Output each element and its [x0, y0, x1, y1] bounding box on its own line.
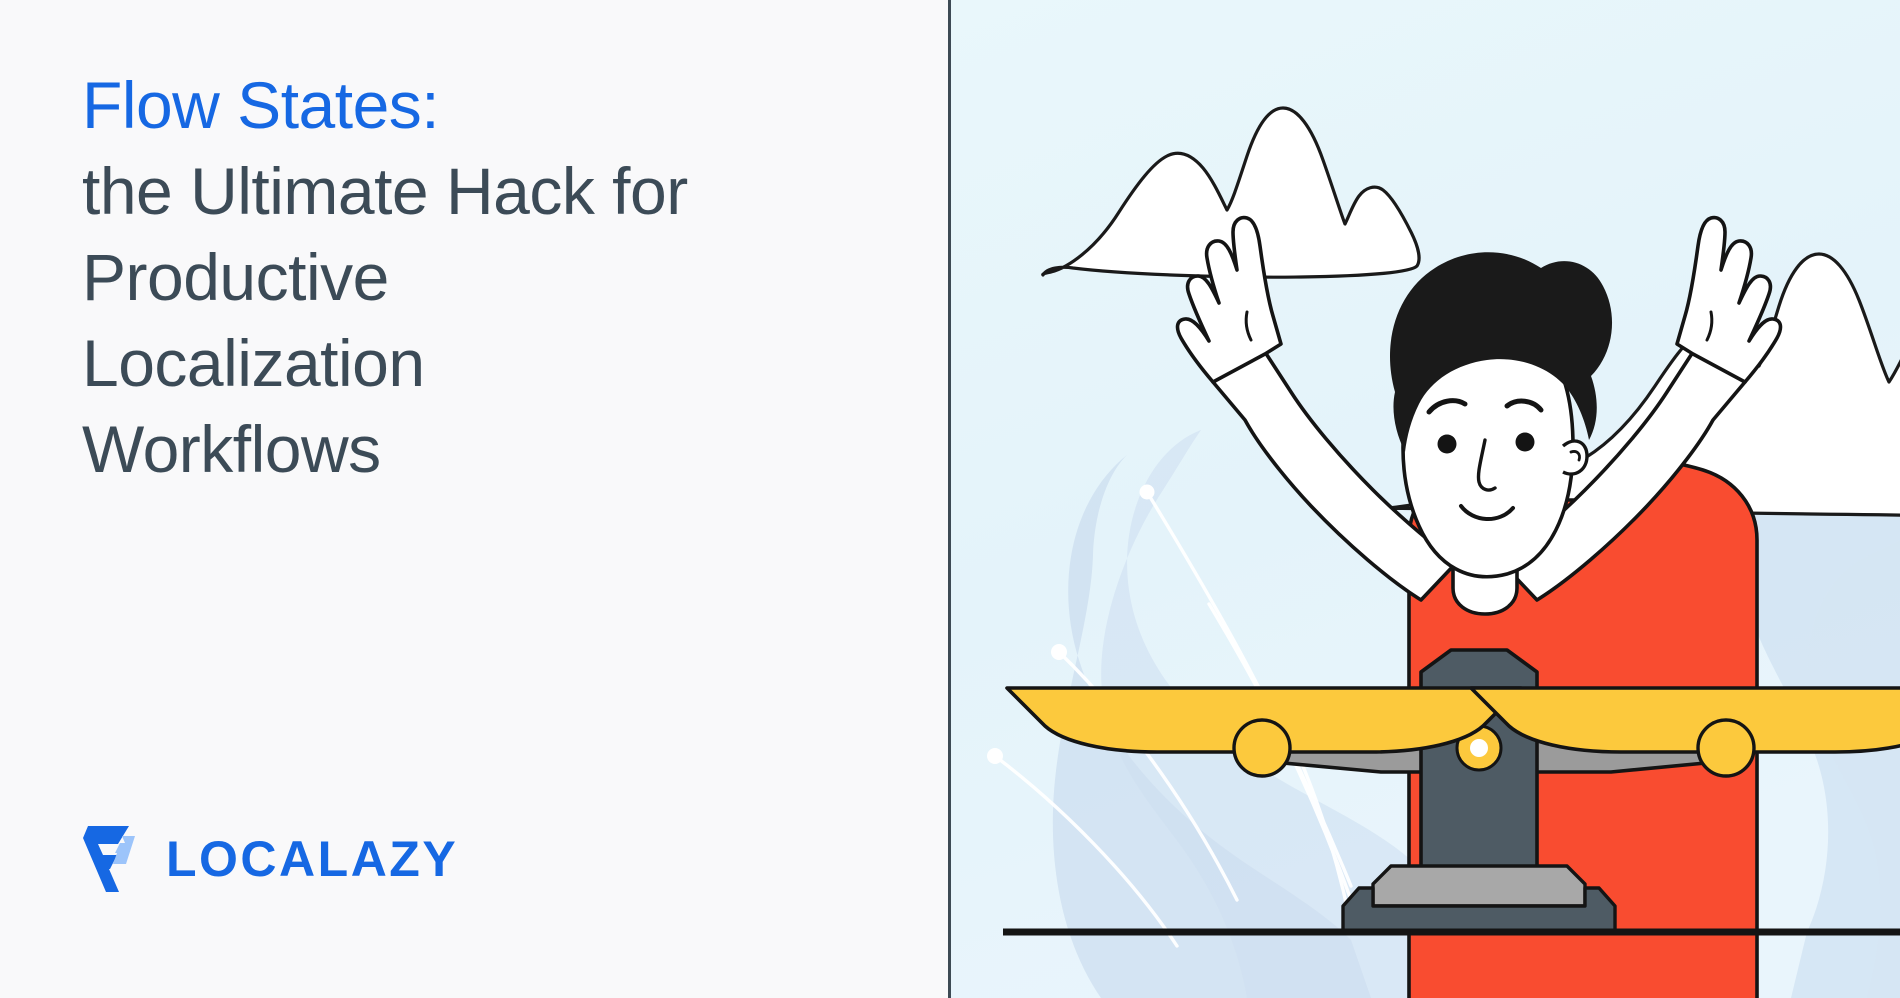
- blog-cover-banner: Flow States: the Ultimate Hack for Produ…: [0, 0, 1900, 998]
- localazy-wordmark: LOCALAZY: [166, 834, 458, 884]
- headline-accent-line: Flow States:: [82, 62, 722, 148]
- scale-plinth: [1373, 866, 1585, 906]
- right-illustration-panel: [951, 0, 1900, 998]
- headline-body-line: the Ultimate Hack for Productive Localiz…: [82, 148, 722, 492]
- person-with-balance-scale-illustration: [951, 0, 1900, 998]
- localazy-logo[interactable]: LOCALAZY: [82, 822, 458, 896]
- localazy-flag-mark-icon: [82, 824, 144, 894]
- page-title: Flow States: the Ultimate Hack for Produ…: [82, 62, 722, 492]
- left-text-panel: Flow States: the Ultimate Hack for Produ…: [0, 0, 951, 998]
